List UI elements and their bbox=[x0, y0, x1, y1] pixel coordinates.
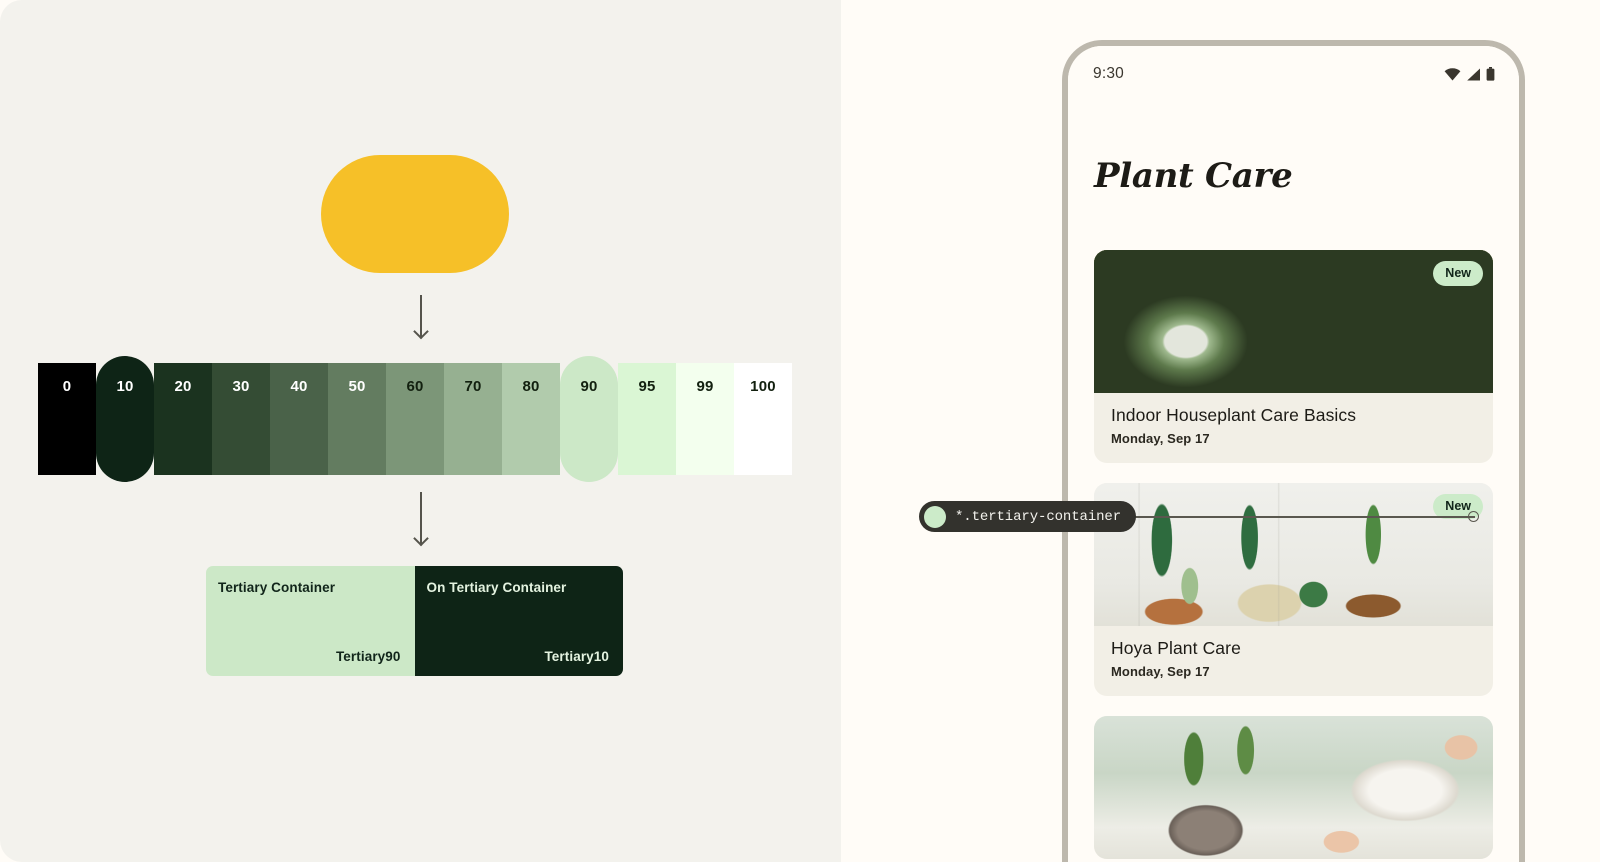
palette-panel: 01020304050607080909599100 Tertiary Cont… bbox=[0, 0, 841, 862]
tooltip-connector-line bbox=[1095, 516, 1475, 518]
card-image: New bbox=[1094, 483, 1493, 626]
tone-swatch-90[interactable]: 90 bbox=[560, 356, 618, 482]
status-badge: New bbox=[1433, 261, 1483, 286]
tone-label: 30 bbox=[232, 379, 249, 475]
tertiary-container-role-pair: Tertiary ContainerTertiary90On Tertiary … bbox=[206, 566, 623, 676]
status-time: 9:30 bbox=[1093, 65, 1124, 83]
card-body: Hoya Plant CareMonday, Sep 17 bbox=[1094, 626, 1493, 696]
wifi-icon bbox=[1444, 68, 1461, 81]
tooltip-code-label: *.tertiary-container bbox=[955, 509, 1121, 525]
card-image bbox=[1094, 716, 1493, 859]
tone-label: 100 bbox=[750, 379, 776, 475]
tooltip-color-swatch-icon bbox=[924, 506, 946, 528]
card-list: NewIndoor Houseplant Care BasicsMonday, … bbox=[1094, 250, 1493, 862]
role-swatch[interactable]: Tertiary ContainerTertiary90 bbox=[206, 566, 415, 676]
tone-swatch-20[interactable]: 20 bbox=[154, 363, 212, 475]
card-date: Monday, Sep 17 bbox=[1111, 664, 1476, 679]
role-tone-label: Tertiary90 bbox=[218, 649, 401, 664]
article-card[interactable] bbox=[1094, 716, 1493, 859]
card-title: Indoor Houseplant Care Basics bbox=[1111, 405, 1476, 426]
cellular-signal-icon bbox=[1466, 68, 1481, 81]
screenshot-stage: 01020304050607080909599100 Tertiary Cont… bbox=[0, 0, 1600, 862]
tone-swatch-30[interactable]: 30 bbox=[212, 363, 270, 475]
tone-swatch-50[interactable]: 50 bbox=[328, 363, 386, 475]
arrow-ramp-to-roles-icon bbox=[414, 492, 428, 544]
tone-label: 99 bbox=[696, 379, 713, 475]
tooltip-connector-endpoint-icon bbox=[1468, 511, 1479, 522]
battery-icon bbox=[1486, 67, 1495, 81]
tone-swatch-0[interactable]: 0 bbox=[38, 363, 96, 475]
article-card[interactable]: NewIndoor Houseplant Care BasicsMonday, … bbox=[1094, 250, 1493, 463]
phone-screen: 9:30 Plant Care NewIndoor Houseplant Car… bbox=[1068, 46, 1519, 862]
tone-swatch-99[interactable]: 99 bbox=[676, 363, 734, 475]
card-image: New bbox=[1094, 250, 1493, 393]
tone-label: 50 bbox=[348, 379, 365, 475]
card-date: Monday, Sep 17 bbox=[1111, 431, 1476, 446]
page-title: Plant Care bbox=[1094, 156, 1292, 196]
watering-plant-photo-icon bbox=[1094, 716, 1493, 859]
tone-label: 60 bbox=[406, 379, 423, 475]
tertiary-tonal-palette: 01020304050607080909599100 bbox=[38, 363, 792, 475]
tone-swatch-40[interactable]: 40 bbox=[270, 363, 328, 475]
tone-label: 40 bbox=[290, 379, 307, 475]
card-body: Indoor Houseplant Care BasicsMonday, Sep… bbox=[1094, 393, 1493, 463]
color-role-tooltip[interactable]: *.tertiary-container bbox=[919, 501, 1136, 532]
tone-swatch-80[interactable]: 80 bbox=[502, 363, 560, 475]
tone-swatch-60[interactable]: 60 bbox=[386, 363, 444, 475]
tone-label: 0 bbox=[63, 379, 72, 475]
status-icons bbox=[1444, 67, 1495, 81]
arrow-source-to-ramp-icon bbox=[414, 295, 428, 337]
tone-label: 20 bbox=[174, 379, 191, 475]
role-name-label: Tertiary Container bbox=[218, 580, 401, 595]
card-title: Hoya Plant Care bbox=[1111, 638, 1476, 659]
status-bar: 9:30 bbox=[1068, 46, 1519, 102]
role-tone-label: Tertiary10 bbox=[427, 649, 610, 664]
tone-label: 95 bbox=[638, 379, 655, 475]
tone-label: 80 bbox=[522, 379, 539, 475]
tone-label: 90 bbox=[580, 379, 597, 482]
tone-swatch-70[interactable]: 70 bbox=[444, 363, 502, 475]
phone-mockup: 9:30 Plant Care NewIndoor Houseplant Car… bbox=[1062, 40, 1525, 862]
tone-swatch-95[interactable]: 95 bbox=[618, 363, 676, 475]
role-swatch[interactable]: On Tertiary ContainerTertiary10 bbox=[415, 566, 624, 676]
tone-label: 10 bbox=[116, 379, 133, 482]
source-color-swatch[interactable] bbox=[321, 155, 509, 273]
article-card[interactable]: NewHoya Plant CareMonday, Sep 17 bbox=[1094, 483, 1493, 696]
tone-swatch-10[interactable]: 10 bbox=[96, 356, 154, 482]
tone-swatch-100[interactable]: 100 bbox=[734, 363, 792, 475]
role-name-label: On Tertiary Container bbox=[427, 580, 610, 595]
tone-label: 70 bbox=[464, 379, 481, 475]
